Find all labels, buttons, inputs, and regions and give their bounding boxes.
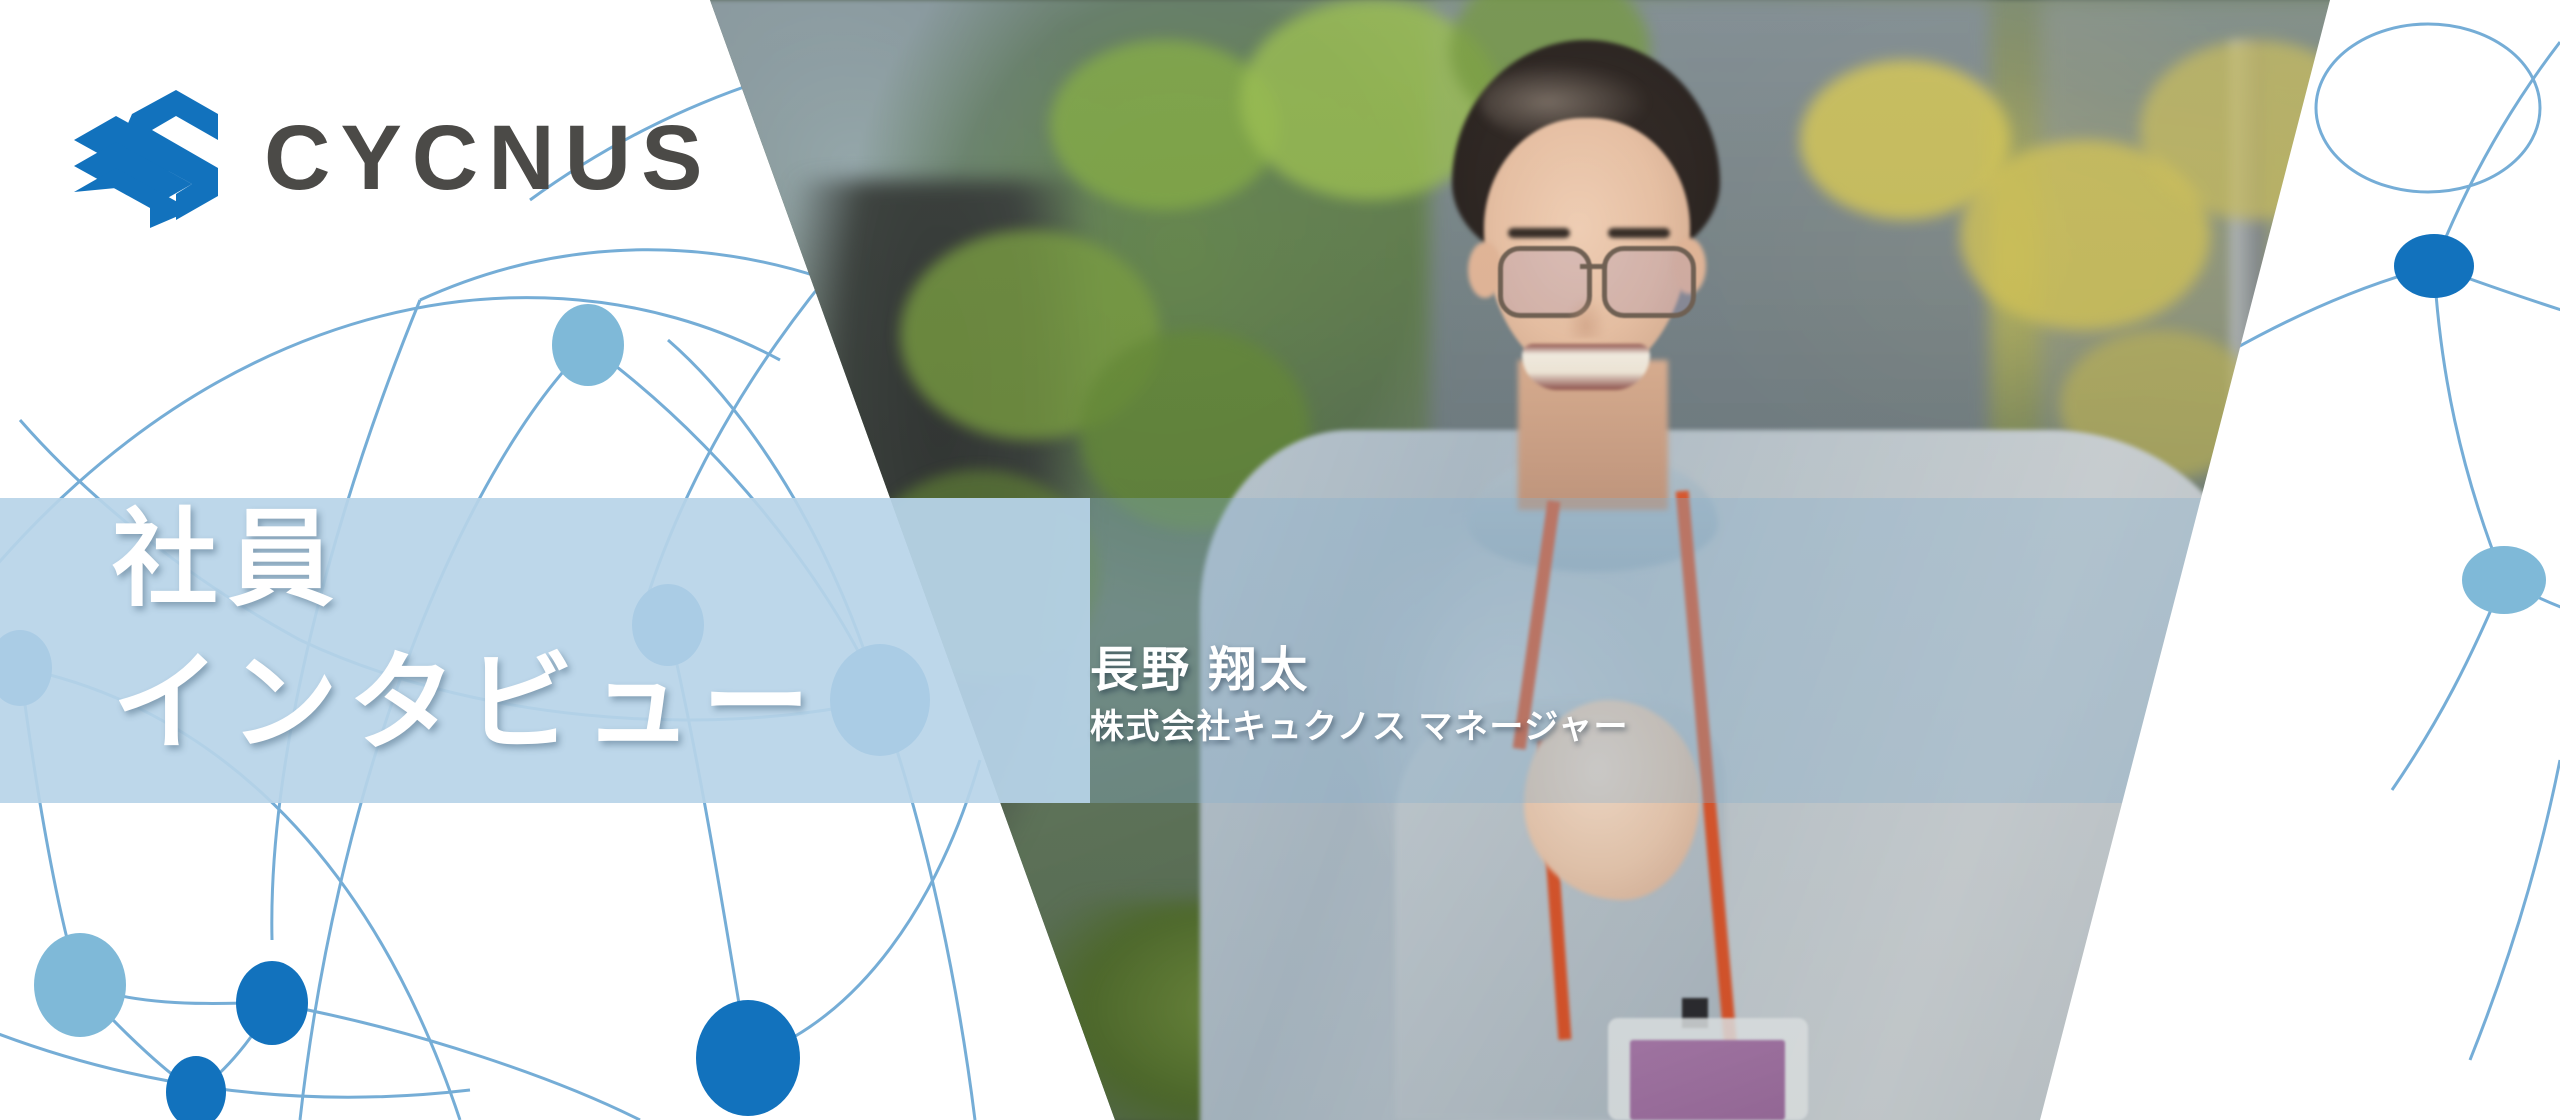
network-node [552,304,624,386]
headline-line1: 社員 [112,506,344,614]
network-node [2462,546,2546,614]
person-caption: 長野 翔太 株式会社キュクノス マネージャー [1090,640,1629,750]
network-node [166,1056,226,1120]
network-node [34,933,126,1037]
cycnus-logo[interactable]: CYCNUS [72,88,712,228]
hero-banner: CYCNUS 社員 インタビュー 長野 翔太 株式会社キュクノス マネージャー [0,0,2560,1120]
headline-line2: インタビュー [112,648,820,758]
cycnus-logo-mark-icon [72,88,220,228]
network-node [2394,234,2474,298]
network-node [696,1000,800,1116]
person-affiliation: 株式会社キュクノス マネージャー [1090,705,1629,749]
cycnus-wordmark: CYCNUS [264,112,712,204]
network-node [236,961,308,1045]
person-name: 長野 翔太 [1090,640,1629,701]
